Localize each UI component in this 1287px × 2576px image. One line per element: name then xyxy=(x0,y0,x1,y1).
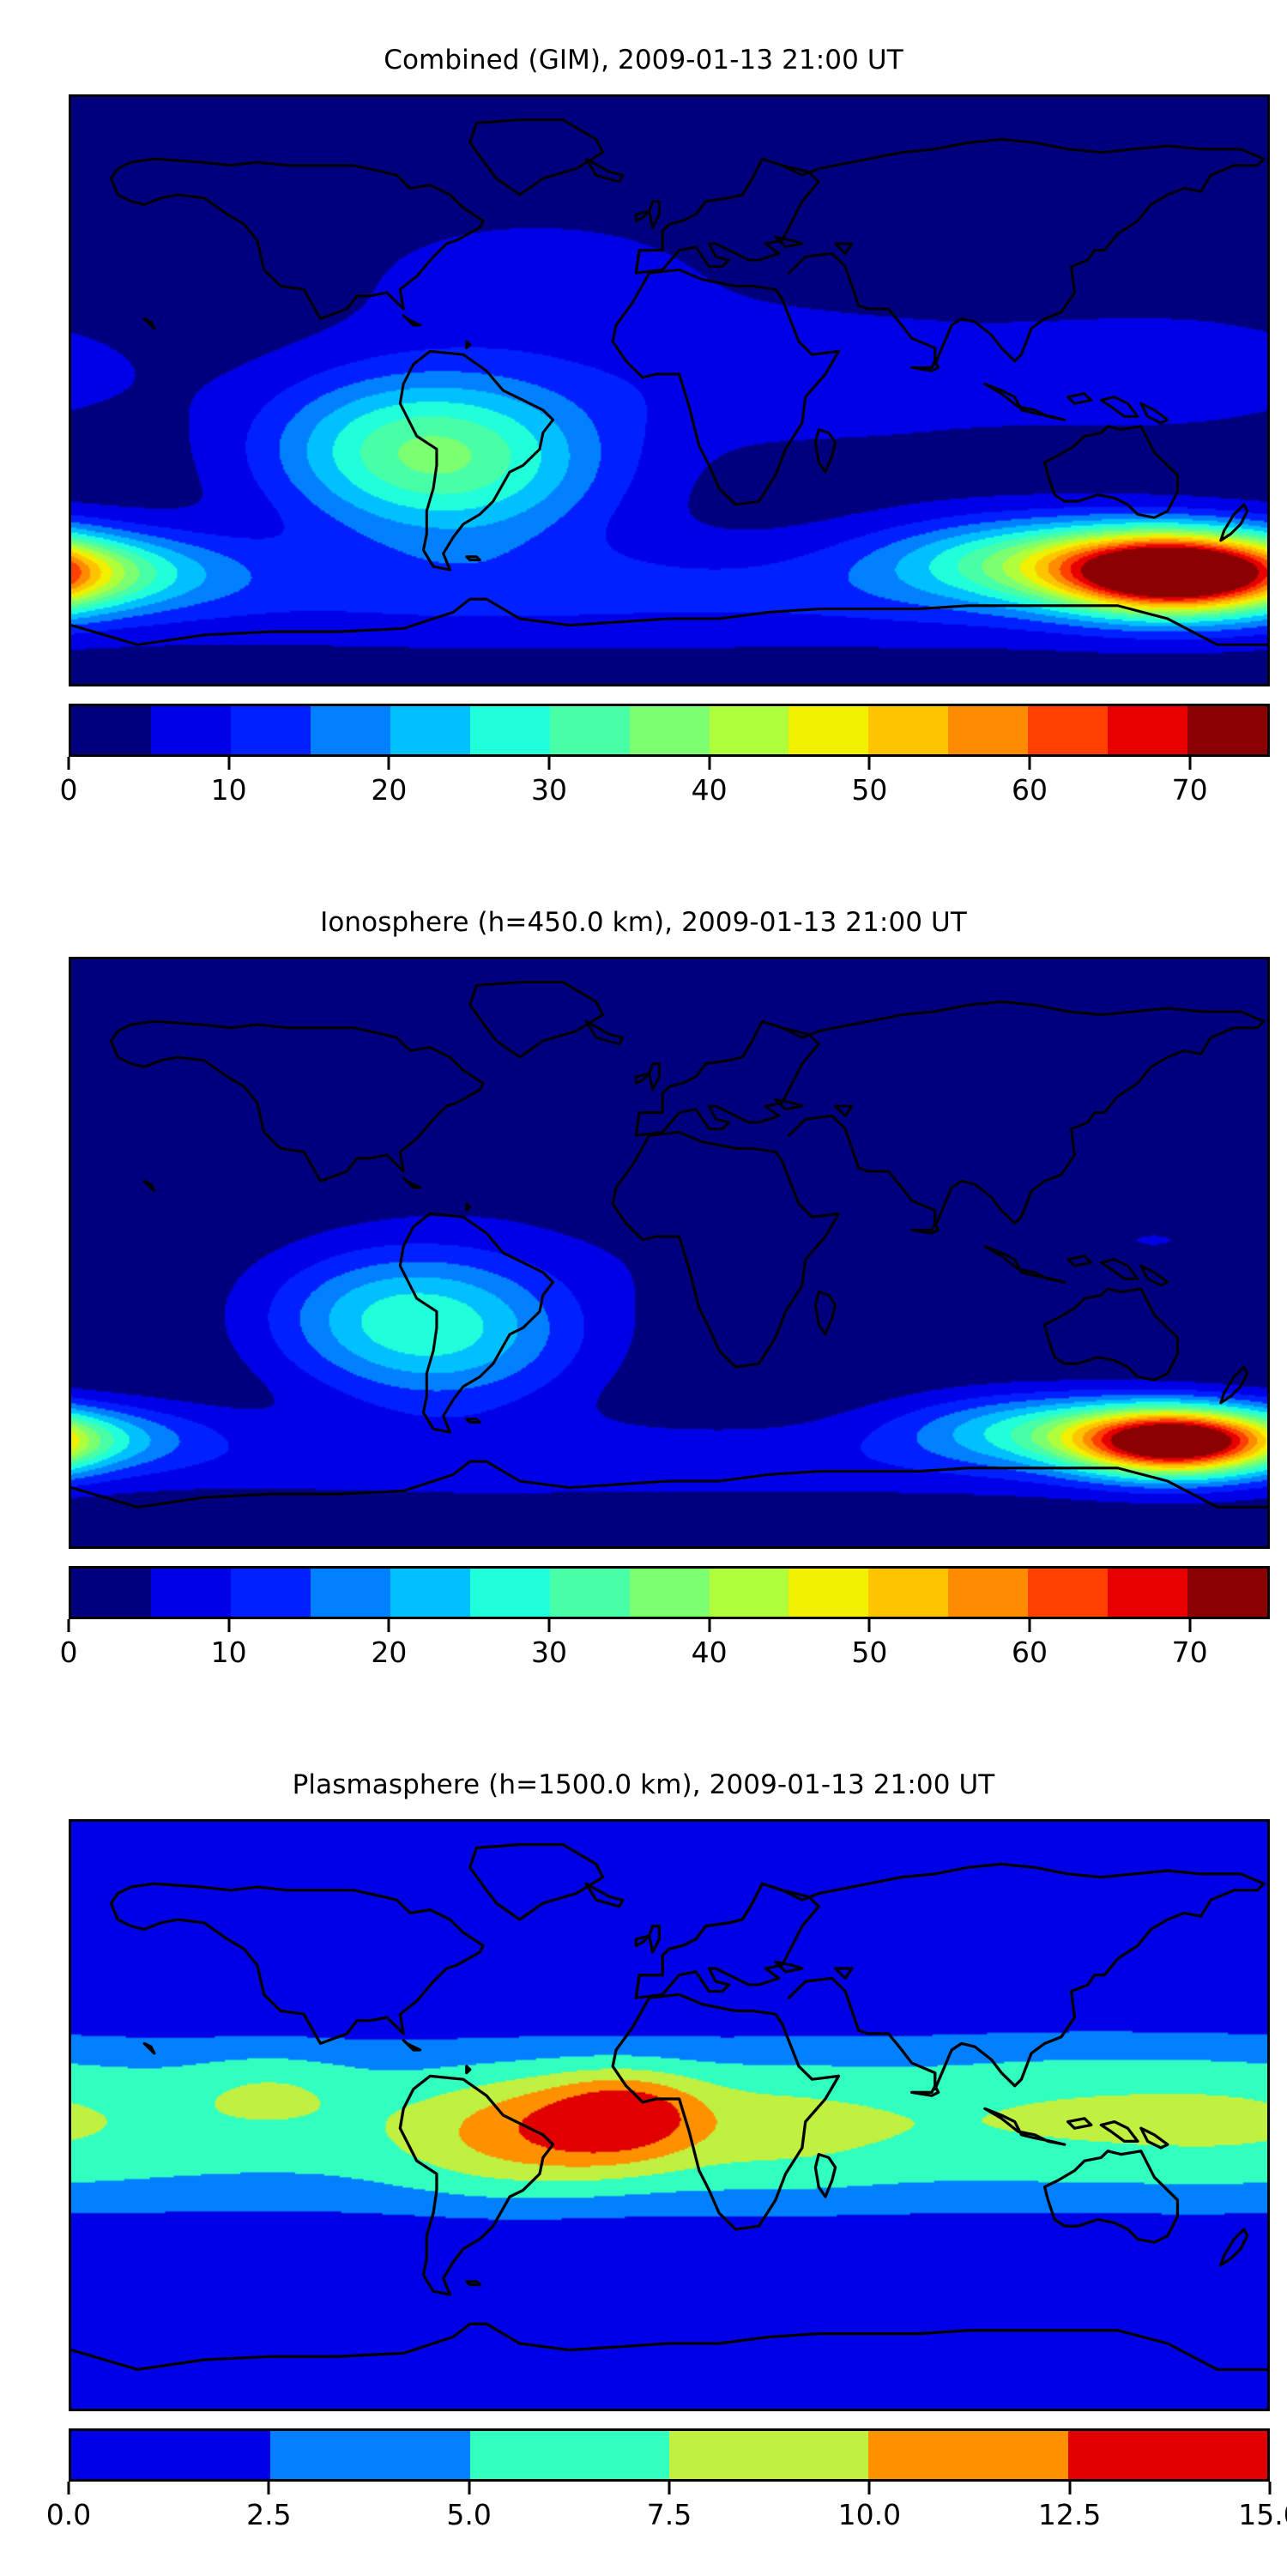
colorbar-ionosphere[interactable] xyxy=(69,1566,1270,1619)
colorbar-tick-label: 70 xyxy=(1172,772,1208,808)
colorbar-tick xyxy=(468,2482,470,2494)
colorbar-segment xyxy=(390,1569,470,1617)
colorbar-tick-label: 60 xyxy=(1012,1635,1048,1671)
colorbar-segment xyxy=(1028,1569,1108,1617)
colorbar-tick-label: 20 xyxy=(371,1635,407,1671)
colorbar-segment xyxy=(948,1569,1028,1617)
colorbar-tick xyxy=(1068,2482,1071,2494)
colorbar-segment xyxy=(470,1569,550,1617)
colorbar-segment xyxy=(669,2431,868,2479)
colorbar-ticks-combined xyxy=(69,757,1270,772)
colorbar-ticks-ionosphere xyxy=(69,1619,1270,1635)
colorbar-tick-label: 15.0 xyxy=(1238,2497,1287,2533)
colorbar-tick-label: 30 xyxy=(531,772,567,808)
colorbar-tick xyxy=(668,2482,671,2494)
colorbar-segment xyxy=(311,1569,390,1617)
figure-root: Combined (GIM), 2009-01-13 21:00 UT 0102… xyxy=(0,0,1287,2574)
colorbar-segment xyxy=(1187,1569,1267,1617)
colorbar-segment xyxy=(948,706,1028,754)
colorbar-segment xyxy=(1028,706,1108,754)
colorbar-segment xyxy=(1108,706,1187,754)
colorbar-tick xyxy=(868,2482,871,2494)
colorbar-tick xyxy=(1188,1619,1191,1632)
colorbar-tick-label: 5.0 xyxy=(446,2497,491,2533)
panel-title-combined-gim: Combined (GIM), 2009-01-13 21:00 UT xyxy=(0,45,1287,76)
colorbar-tick xyxy=(68,1619,70,1632)
colorbar-tick xyxy=(227,1619,230,1632)
panel-title-ionosphere: Ionosphere (h=450.0 km), 2009-01-13 21:0… xyxy=(0,907,1287,938)
colorbar-segment xyxy=(630,1569,710,1617)
colorbar-segment xyxy=(71,706,151,754)
colorbar-segment xyxy=(231,1569,311,1617)
colorbar-plasmasphere[interactable] xyxy=(69,2428,1270,2482)
map-axes-combined-gim xyxy=(69,94,1270,686)
colorbar-tick xyxy=(388,757,390,770)
colorbar-tick-label: 40 xyxy=(692,1635,728,1671)
colorbar-labels-ionosphere: 010203040506070 xyxy=(69,1635,1270,1672)
colorbar-segment xyxy=(1187,706,1267,754)
map-axes-plasmasphere xyxy=(69,1819,1270,2411)
colorbar-segment xyxy=(390,706,470,754)
colorbar-segment xyxy=(1108,1569,1187,1617)
colorbar-tick xyxy=(548,1619,551,1632)
colorbar-tick-label: 10.0 xyxy=(838,2497,901,2533)
panel-combined-gim: Combined (GIM), 2009-01-13 21:00 UT 0102… xyxy=(0,45,1287,851)
colorbar-segment xyxy=(868,1569,948,1617)
colorbar-tick-label: 50 xyxy=(851,1635,887,1671)
colorbar-tick-label: 0.0 xyxy=(46,2497,91,2533)
colorbar-tick-label: 10 xyxy=(211,1635,247,1671)
colorbar-tick xyxy=(868,1619,871,1632)
colorbar-segment xyxy=(710,706,789,754)
colorbar-tick xyxy=(868,757,871,770)
colorbar-plasmasphere-wrap: 0.02.55.07.510.012.515.0 xyxy=(69,2428,1270,2535)
colorbar-tick xyxy=(708,757,710,770)
colorbar-segment xyxy=(71,2431,270,2479)
colorbar-labels-combined: 010203040506070 xyxy=(69,772,1270,810)
colorbar-segment xyxy=(151,706,231,754)
colorbar-tick-label: 0 xyxy=(60,1635,78,1671)
colorbar-tick xyxy=(68,2482,70,2494)
map-axes-ionosphere xyxy=(69,957,1270,1549)
colorbar-tick-label: 40 xyxy=(692,772,728,808)
colorbar-combined-wrap: 010203040506070 xyxy=(69,704,1270,810)
colorbar-segment xyxy=(550,706,630,754)
colorbar-ionosphere-wrap: 010203040506070 xyxy=(69,1566,1270,1672)
tec-field-combined-gim xyxy=(71,97,1267,684)
colorbar-segment xyxy=(470,706,550,754)
colorbar-tick-label: 60 xyxy=(1012,772,1048,808)
colorbar-segment xyxy=(311,706,390,754)
colorbar-tick-label: 0 xyxy=(60,772,78,808)
colorbar-tick xyxy=(68,757,70,770)
tec-field-ionosphere xyxy=(71,959,1267,1546)
panel-plasmasphere: Plasmasphere (h=1500.0 km), 2009-01-13 2… xyxy=(0,1769,1287,2576)
colorbar-tick xyxy=(227,757,230,770)
colorbar-tick xyxy=(548,757,551,770)
colorbar-tick xyxy=(1269,2482,1272,2494)
colorbar-ticks-plasmasphere xyxy=(69,2482,1270,2497)
colorbar-tick-label: 10 xyxy=(211,772,247,808)
colorbar-segment xyxy=(868,2431,1067,2479)
colorbar-tick xyxy=(388,1619,390,1632)
colorbar-segment xyxy=(789,1569,868,1617)
panel-title-plasmasphere: Plasmasphere (h=1500.0 km), 2009-01-13 2… xyxy=(0,1769,1287,1800)
colorbar-tick-label: 20 xyxy=(371,772,407,808)
panel-ionosphere: Ionosphere (h=450.0 km), 2009-01-13 21:0… xyxy=(0,907,1287,1714)
colorbar-segment xyxy=(550,1569,630,1617)
colorbar-tick-label: 7.5 xyxy=(647,2497,692,2533)
colorbar-segment xyxy=(71,1569,151,1617)
colorbar-tick-label: 50 xyxy=(851,772,887,808)
tec-field-plasmasphere xyxy=(71,1822,1267,2409)
colorbar-combined[interactable] xyxy=(69,704,1270,757)
colorbar-tick-label: 30 xyxy=(531,1635,567,1671)
colorbar-tick xyxy=(1029,757,1031,770)
colorbar-segment xyxy=(710,1569,789,1617)
colorbar-segment xyxy=(470,2431,669,2479)
colorbar-segment xyxy=(868,706,948,754)
colorbar-segment xyxy=(231,706,311,754)
colorbar-labels-plasmasphere: 0.02.55.07.510.012.515.0 xyxy=(69,2497,1270,2535)
colorbar-segment xyxy=(630,706,710,754)
colorbar-segment xyxy=(1068,2431,1267,2479)
colorbar-tick xyxy=(708,1619,710,1632)
colorbar-tick xyxy=(268,2482,270,2494)
colorbar-tick-label: 2.5 xyxy=(246,2497,291,2533)
colorbar-segment xyxy=(789,706,868,754)
colorbar-tick-label: 12.5 xyxy=(1038,2497,1101,2533)
colorbar-tick xyxy=(1029,1619,1031,1632)
colorbar-tick xyxy=(1188,757,1191,770)
colorbar-segment xyxy=(270,2431,469,2479)
colorbar-tick-label: 70 xyxy=(1172,1635,1208,1671)
colorbar-segment xyxy=(151,1569,231,1617)
